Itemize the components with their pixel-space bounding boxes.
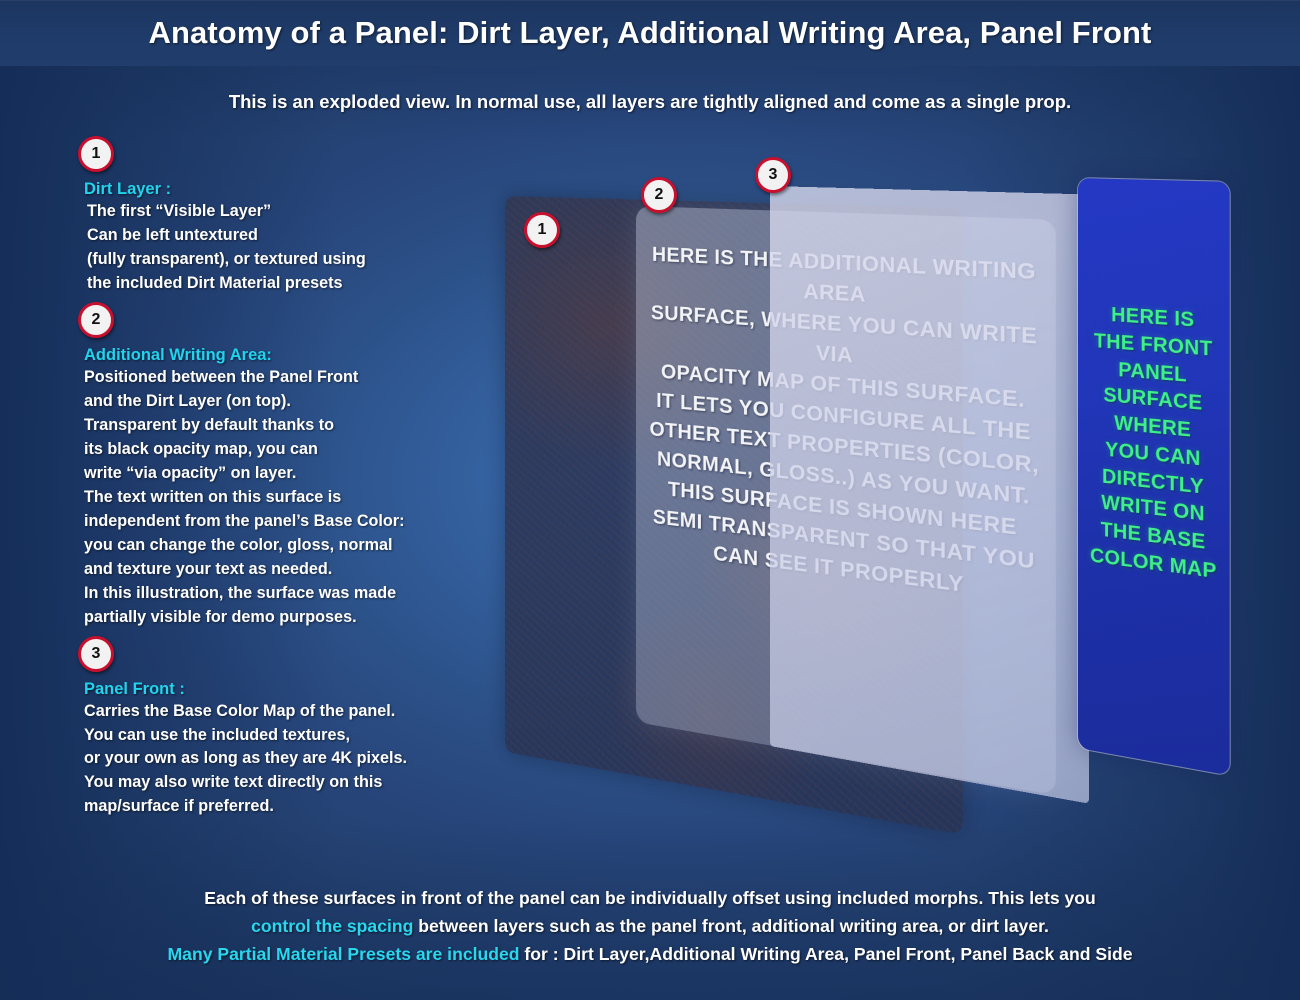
panel-front-text: HERE IS THE FRONT PANEL SURFACE WHERE YO… (1082, 300, 1226, 587)
note-body-dirt-layer: The first “Visible Layer” Can be left un… (87, 200, 498, 296)
layer-panel-front[interactable]: HERE IS THE FRONT PANEL SURFACE WHERE YO… (1078, 178, 1230, 776)
badge-number-2: 2 (78, 302, 114, 338)
page-title: Anatomy of a Panel: Dirt Layer, Addition… (149, 15, 1152, 51)
annotation-column: 1 Dirt Layer : The first “Visible Layer”… (78, 136, 498, 825)
note-body-panel-front: Carries the Base Color Map of the panel.… (84, 700, 498, 820)
footer-line-3: Many Partial Material Presets are includ… (0, 941, 1300, 969)
note-body-additional-writing-area: Positioned between the Panel Front and t… (84, 366, 498, 630)
badge-number-3: 3 (78, 636, 114, 672)
footer-notes: Each of these surfaces in front of the p… (0, 885, 1300, 968)
footer-line-3-highlight: Many Partial Material Presets are includ… (168, 944, 520, 964)
header-bar: Anatomy of a Panel: Dirt Layer, Addition… (0, 0, 1300, 66)
note-heading-additional-writing-area: Additional Writing Area: (84, 346, 498, 365)
footer-line-2-rest: between layers such as the panel front, … (413, 916, 1049, 936)
layer-panel-front-glass[interactable] (770, 186, 1089, 804)
note-block-additional-writing-area: 2 Additional Writing Area: Positioned be… (78, 302, 498, 630)
note-block-dirt-layer: 1 Dirt Layer : The first “Visible Layer”… (78, 136, 498, 296)
infographic-root: Anatomy of a Panel: Dirt Layer, Addition… (0, 0, 1300, 1000)
footer-line-1: Each of these surfaces in front of the p… (0, 885, 1300, 913)
note-block-panel-front: 3 Panel Front : Carries the Base Color M… (78, 636, 498, 820)
badge-number-1: 1 (78, 136, 114, 172)
footer-line-3-rest: for : Dirt Layer,Additional Writing Area… (520, 944, 1133, 964)
footer-line-2-highlight: control the spacing (251, 916, 413, 936)
subtitle-text: This is an exploded view. In normal use,… (0, 91, 1300, 113)
footer-line-2: control the spacing between layers such … (0, 913, 1300, 941)
note-heading-panel-front: Panel Front : (84, 680, 498, 699)
note-heading-dirt-layer: Dirt Layer : (84, 180, 498, 199)
